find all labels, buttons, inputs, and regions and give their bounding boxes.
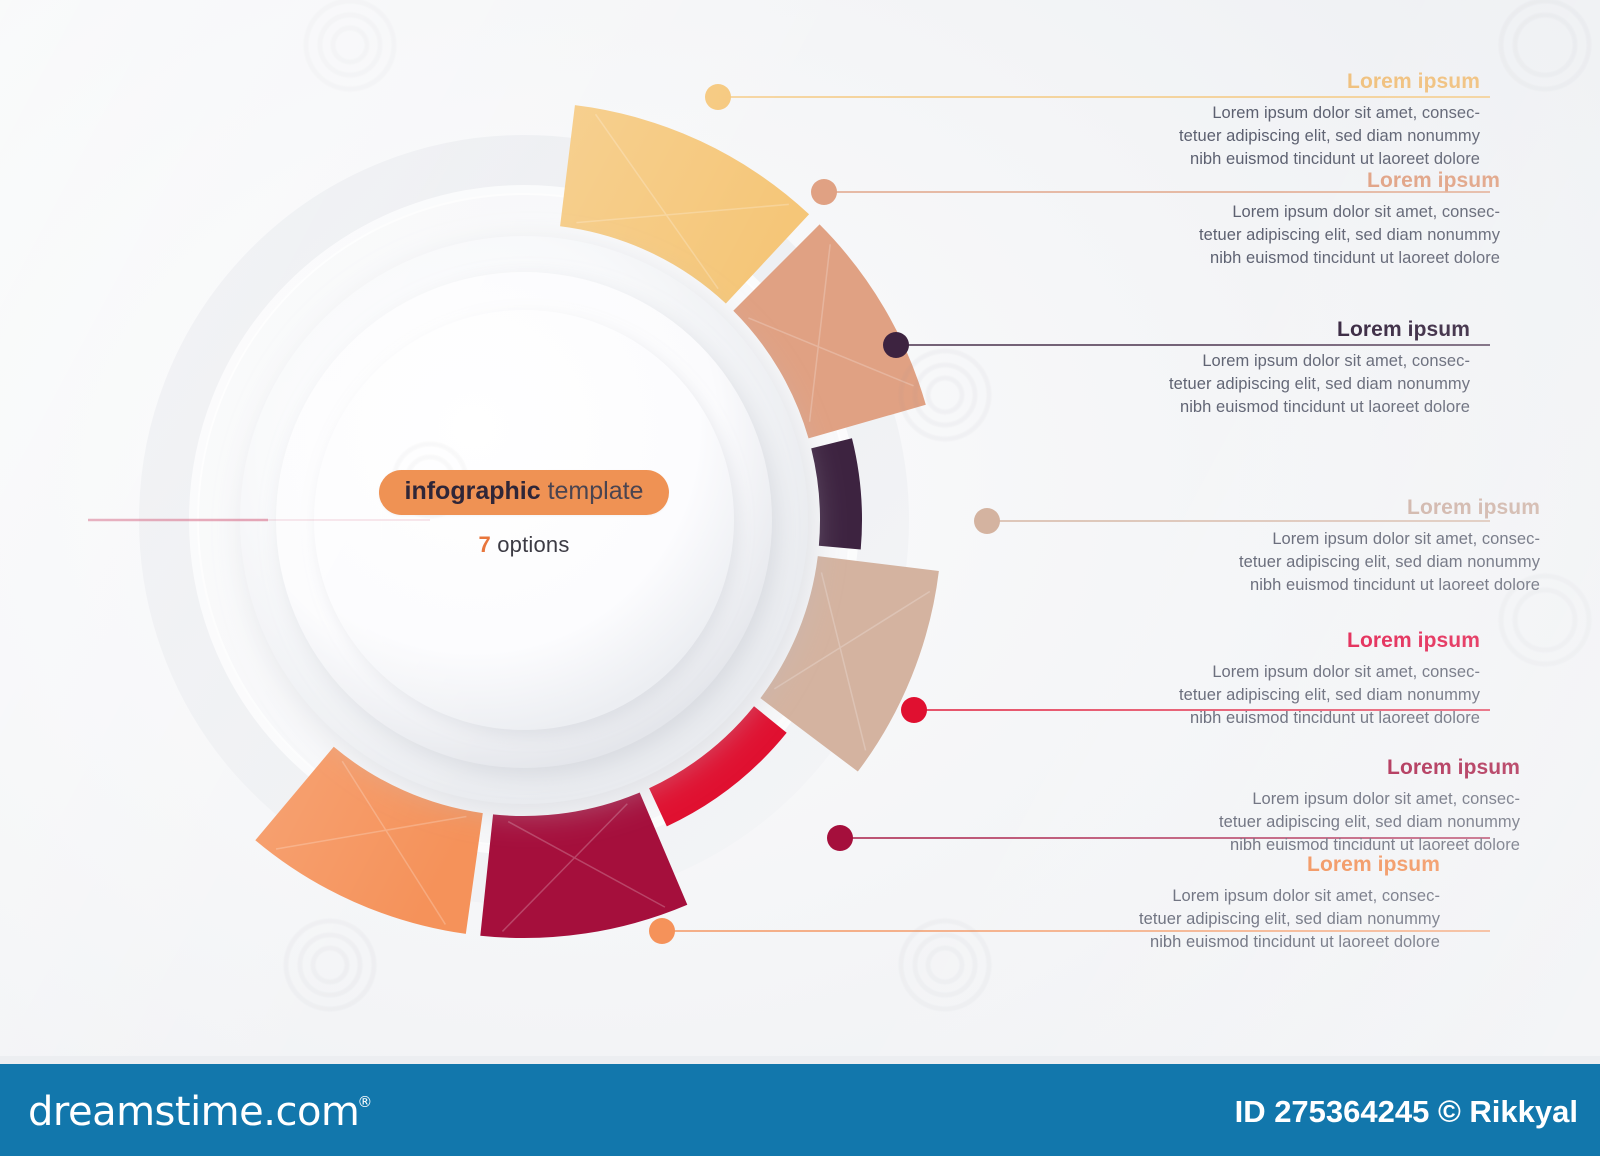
label-heading-3: Lorem ipsum bbox=[1030, 318, 1470, 341]
image-id-text: ID 275364245 © Rikkyal bbox=[1235, 1094, 1578, 1130]
dreamstime-logo-text: dreamstime.com bbox=[28, 1089, 359, 1135]
infographic-canvas: infographic template 7 options Lorem ips… bbox=[0, 0, 1600, 1060]
label-body-7: Lorem ipsum dolor sit amet, consec-tetue… bbox=[1000, 885, 1440, 953]
label-heading-2: Lorem ipsum bbox=[1060, 169, 1500, 192]
registered-mark-icon: ® bbox=[357, 1093, 372, 1111]
label-block-6[interactable]: Lorem ipsumLorem ipsum dolor sit amet, c… bbox=[1080, 756, 1520, 856]
footer-divider bbox=[0, 1056, 1600, 1064]
dreamstime-watermark-bar: dreamstime.com® ID 275364245 © Rikkyal bbox=[0, 1064, 1600, 1156]
label-heading-7: Lorem ipsum bbox=[1000, 853, 1440, 876]
label-heading-6: Lorem ipsum bbox=[1080, 756, 1520, 779]
label-block-5[interactable]: Lorem ipsumLorem ipsum dolor sit amet, c… bbox=[1040, 629, 1480, 729]
center-title-bold: infographic bbox=[405, 477, 541, 505]
label-heading-5: Lorem ipsum bbox=[1040, 629, 1480, 652]
center-label: infographic template 7 options bbox=[300, 470, 748, 558]
dreamstime-logo: dreamstime.com® bbox=[28, 1089, 374, 1135]
label-body-2: Lorem ipsum dolor sit amet, consec-tetue… bbox=[1060, 201, 1500, 269]
label-block-3[interactable]: Lorem ipsumLorem ipsum dolor sit amet, c… bbox=[1030, 318, 1470, 418]
label-body-5: Lorem ipsum dolor sit amet, consec-tetue… bbox=[1040, 661, 1480, 729]
center-title-light: template bbox=[541, 477, 644, 505]
label-column: Lorem ipsumLorem ipsum dolor sit amet, c… bbox=[0, 0, 1600, 1060]
label-body-3: Lorem ipsum dolor sit amet, consec-tetue… bbox=[1030, 350, 1470, 418]
center-pill[interactable]: infographic template bbox=[379, 470, 670, 515]
label-block-2[interactable]: Lorem ipsumLorem ipsum dolor sit amet, c… bbox=[1060, 169, 1500, 269]
options-word: options bbox=[491, 532, 570, 557]
label-heading-1: Lorem ipsum bbox=[1040, 70, 1480, 93]
label-block-7[interactable]: Lorem ipsumLorem ipsum dolor sit amet, c… bbox=[1000, 853, 1440, 953]
label-body-1: Lorem ipsum dolor sit amet, consec-tetue… bbox=[1040, 102, 1480, 170]
options-count: 7 bbox=[478, 532, 490, 557]
label-body-6: Lorem ipsum dolor sit amet, consec-tetue… bbox=[1080, 788, 1520, 856]
center-options: 7 options bbox=[300, 532, 748, 558]
label-heading-4: Lorem ipsum bbox=[1100, 496, 1540, 519]
label-block-1[interactable]: Lorem ipsumLorem ipsum dolor sit amet, c… bbox=[1040, 70, 1480, 170]
label-body-4: Lorem ipsum dolor sit amet, consec-tetue… bbox=[1100, 528, 1540, 596]
label-block-4[interactable]: Lorem ipsumLorem ipsum dolor sit amet, c… bbox=[1100, 496, 1540, 596]
